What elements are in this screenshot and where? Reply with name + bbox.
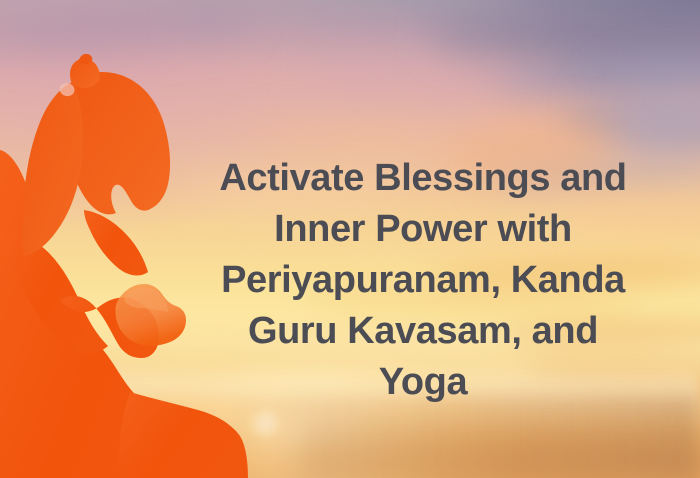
silhouette-hair-back <box>23 82 84 256</box>
page-title: Activate Blessings and Inner Power with … <box>175 153 671 408</box>
silhouette-hair-wisp <box>78 54 92 65</box>
silhouette-neck <box>84 210 148 275</box>
blog-banner-image: Activate Blessings and Inner Power with … <box>0 0 700 478</box>
